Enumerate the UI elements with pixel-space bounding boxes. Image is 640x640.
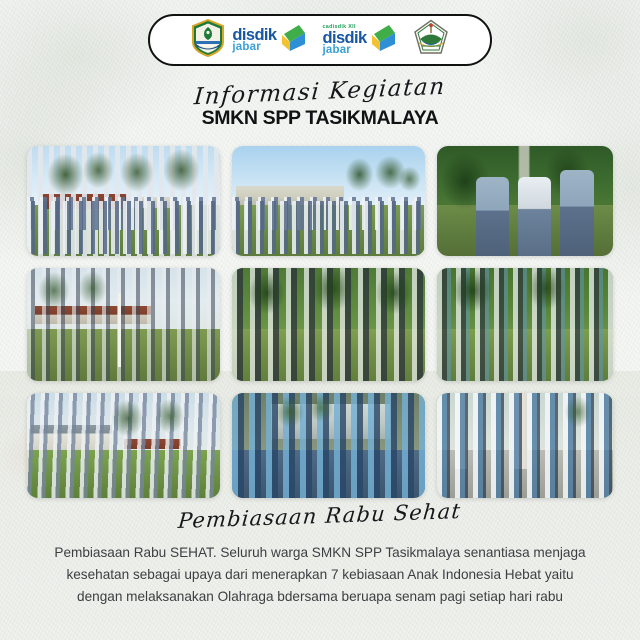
cadisdik-sub-text: jabar [323, 45, 352, 56]
logo-bar: disdik jabar cadisdik XII disdik jabar [148, 14, 492, 66]
header-text-block: Informasi Kegiatan SMKN SPP TASIKMALAYA [0, 80, 640, 130]
disdik-jabar-logo: disdik jabar [232, 23, 315, 58]
photo-net-pole [118, 293, 121, 368]
photo-crowd-overlay [27, 268, 220, 381]
photo-r2c1 [27, 268, 220, 381]
photo-r1c1 [27, 146, 220, 256]
photo-crowd-overlay [437, 268, 613, 381]
photo-r2c3 [437, 268, 613, 381]
photo-crowd-overlay [232, 393, 425, 498]
cadisdik-wordmark: cadisdik XII disdik jabar [323, 25, 367, 56]
photo-student-figure [518, 177, 551, 256]
cadisdik-book-mark-icon [370, 23, 406, 58]
photo-student-figure [476, 177, 509, 256]
photo-gallery-grid [27, 146, 613, 497]
west-java-provincial-emblem-icon [191, 19, 225, 62]
photo-r3c3 [437, 393, 613, 498]
photo-crowd-overlay [437, 393, 613, 498]
disdik-sub-text: jabar [232, 42, 261, 53]
smkn-spp-school-emblem-icon [413, 19, 449, 62]
photo-r1c2 [232, 146, 425, 256]
script-title: Informasi Kegiatan [193, 75, 447, 110]
footer-block: Pembiasaan Rabu Sehat Pembiasaan Rabu SE… [0, 504, 640, 608]
photo-r1c3 [437, 146, 613, 256]
photo-crowd-front-row [232, 201, 425, 254]
photo-r3c2 [232, 393, 425, 498]
photo-lineup-overlay [27, 393, 220, 498]
footer-body-text: Pembiasaan Rabu SEHAT. Seluruh warga SMK… [44, 542, 596, 608]
photo-student-figure [560, 170, 593, 256]
school-name-title: SMKN SPP TASIKMALAYA [0, 107, 640, 130]
photo-r3c1 [27, 393, 220, 498]
disdik-jabar-wordmark: disdik jabar [232, 28, 276, 53]
photo-crowd-front-row [27, 201, 220, 254]
poster-canvas: disdik jabar cadisdik XII disdik jabar [0, 0, 640, 640]
disdik-book-mark-icon [280, 23, 316, 58]
photo-crowd-overlay [232, 268, 425, 381]
cadisdik-xii-logo: cadisdik XII disdik jabar [323, 23, 406, 58]
footer-script-subtitle: Pembiasaan Rabu Sehat [177, 499, 462, 533]
photo-r2c2 [232, 268, 425, 381]
